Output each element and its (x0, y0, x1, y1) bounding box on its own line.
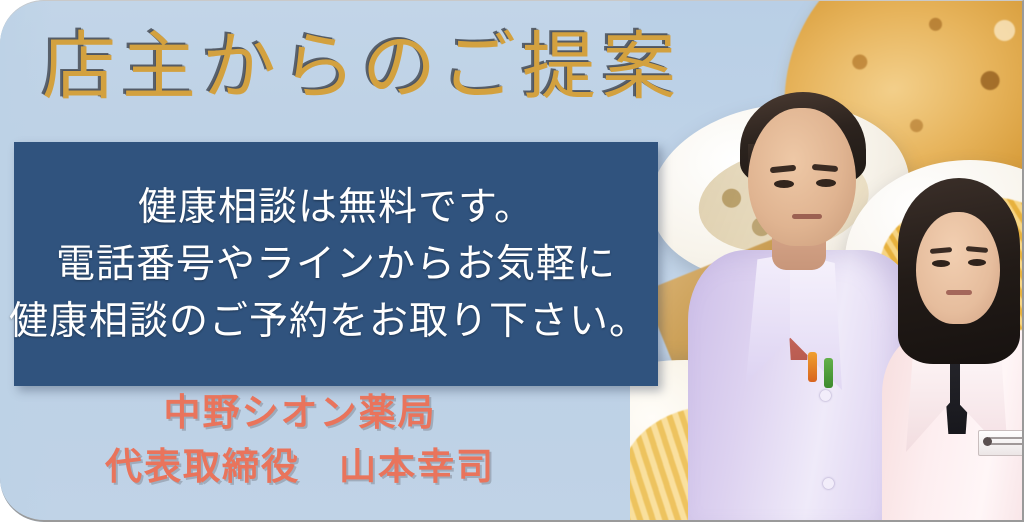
message-line-3: 健康相談のご予約をお取り下さい。 (9, 302, 649, 341)
woman-face (916, 212, 1000, 324)
message-line-2: 電話番号やラインからお気軽に (56, 245, 616, 284)
man-face (748, 108, 856, 246)
pharmacy-name: 中野シオン薬局 (0, 394, 600, 434)
promo-banner: 店主からのご提案 健康相談は無料です。 電話番号やラインからお気軽に 健康相談の… (0, 0, 1024, 522)
woman-eye-right (968, 259, 986, 266)
man-coat-button-upper (820, 390, 831, 401)
woman-name-tag (978, 430, 1024, 456)
man-coat-button-lower (823, 478, 834, 489)
representative-name: 代表取締役 山本幸司 (0, 448, 600, 488)
page-title: 店主からのご提案 (42, 30, 682, 108)
man-lapel-pin-orange (808, 352, 817, 382)
man-mouth (792, 214, 822, 219)
man-eye-right (816, 179, 836, 187)
message-panel: 健康相談は無料です。 電話番号やラインからお気軽に 健康相談のご予約をお取り下さ… (14, 142, 658, 386)
woman-eye-left (932, 260, 950, 267)
woman-mouth (946, 290, 972, 295)
man-lapel-pin-green (824, 358, 833, 388)
signature-block: 中野シオン薬局 代表取締役 山本幸司 (0, 394, 600, 488)
man-eye-left (774, 180, 794, 188)
message-line-1: 健康相談は無料です。 (138, 188, 534, 227)
owner-couple-photo (630, 0, 1024, 522)
